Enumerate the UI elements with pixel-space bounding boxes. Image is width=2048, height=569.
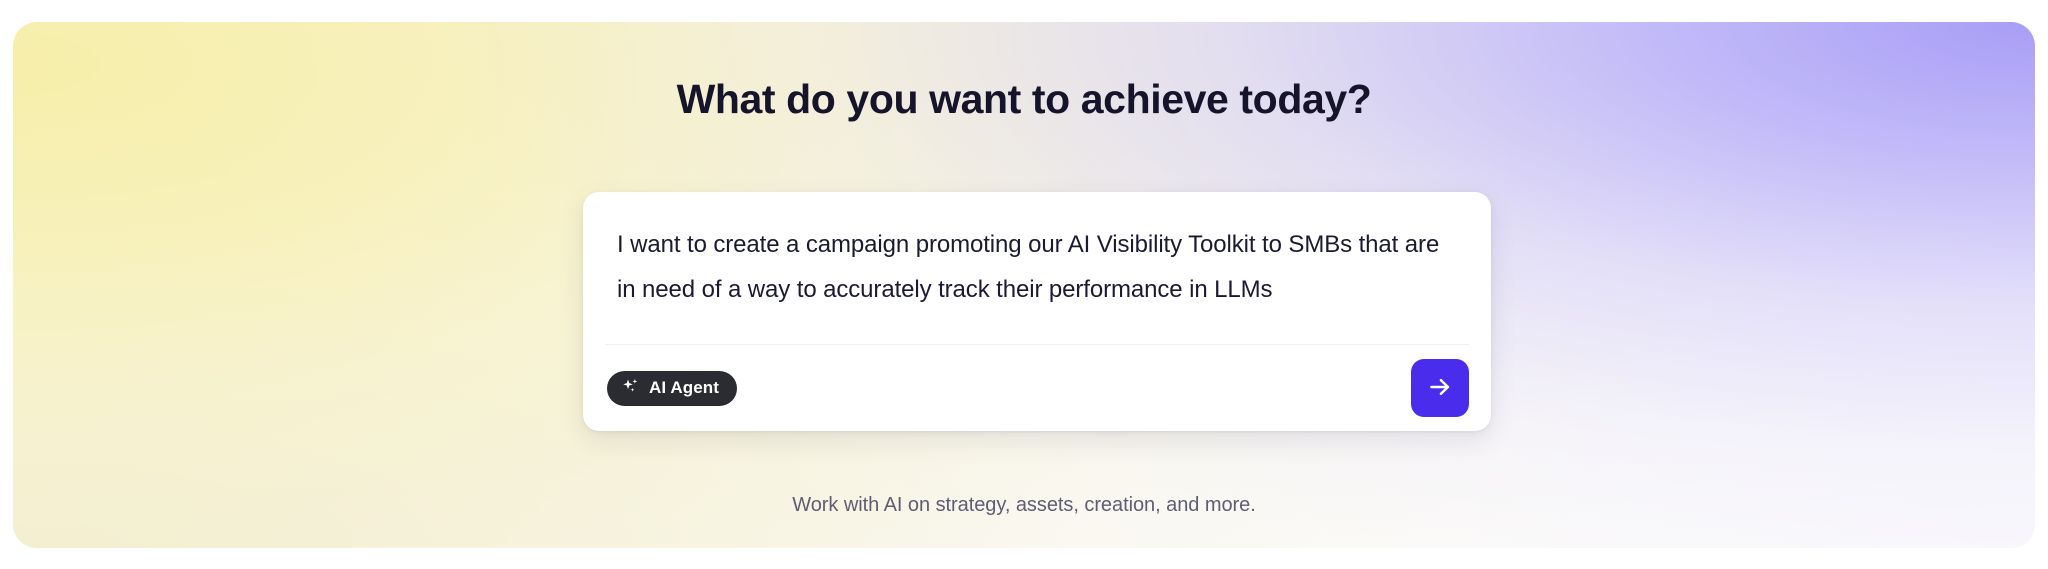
prompt-toolbar: AI Agent	[583, 345, 1491, 431]
sparkle-icon	[621, 377, 640, 399]
ai-agent-chip-label: AI Agent	[649, 378, 719, 398]
hero-caption: Work with AI on strategy, assets, creati…	[13, 494, 2035, 517]
ai-agent-chip[interactable]: AI Agent	[607, 371, 737, 406]
hero-panel: What do you want to achieve today? I wan…	[13, 22, 2035, 548]
submit-button[interactable]	[1411, 359, 1469, 417]
prompt-input[interactable]: I want to create a campaign promoting ou…	[583, 192, 1491, 344]
arrow-right-icon	[1426, 373, 1454, 404]
page-title: What do you want to achieve today?	[13, 74, 2035, 125]
prompt-card: I want to create a campaign promoting ou…	[583, 192, 1491, 431]
